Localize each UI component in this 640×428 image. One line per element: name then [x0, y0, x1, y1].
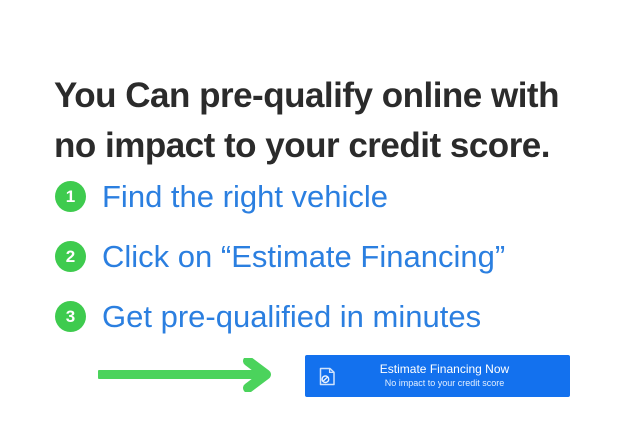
arrow-right-icon: [98, 358, 278, 392]
steps-list: 1 Find the right vehicle 2 Click on “Est…: [55, 166, 615, 346]
cta-text-block: Estimate Financing Now No impact to your…: [349, 362, 570, 390]
page-title: You Can pre-qualify online with no impac…: [54, 71, 614, 171]
cta-title: Estimate Financing Now: [380, 362, 509, 377]
prequalify-promo-card: You Can pre-qualify online with no impac…: [0, 0, 640, 428]
headline-line-1: You Can pre-qualify online with: [54, 71, 614, 121]
step-label: Find the right vehicle: [102, 181, 388, 212]
document-form-icon: [305, 367, 349, 386]
list-item: 1 Find the right vehicle: [55, 166, 615, 226]
list-item: 2 Click on “Estimate Financing”: [55, 226, 615, 286]
step-label: Get pre-qualified in minutes: [102, 301, 481, 332]
estimate-financing-button[interactable]: Estimate Financing Now No impact to your…: [305, 355, 570, 397]
cta-subtitle: No impact to your credit score: [385, 377, 505, 390]
step-number-badge: 2: [55, 241, 86, 272]
list-item: 3 Get pre-qualified in minutes: [55, 286, 615, 346]
headline-line-2: no impact to your credit score.: [54, 121, 614, 171]
step-number-badge: 3: [55, 301, 86, 332]
step-label: Click on “Estimate Financing”: [102, 241, 505, 272]
step-number-badge: 1: [55, 181, 86, 212]
